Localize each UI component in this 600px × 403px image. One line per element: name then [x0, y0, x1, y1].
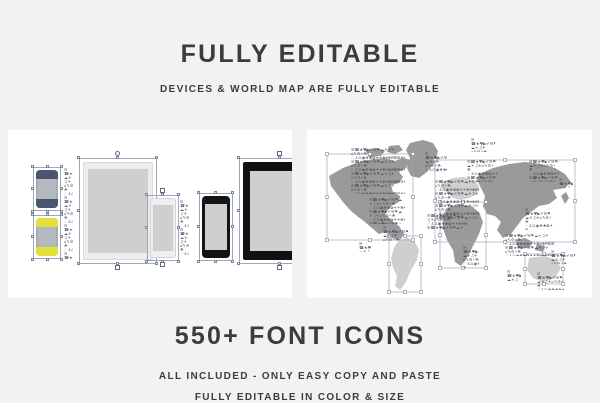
handle-n[interactable]	[46, 165, 49, 168]
region-japan	[561, 192, 569, 204]
icon-cluster-samerica: ✉☎★♥▶✔⚒⚑☁☀♫✈⌂✎⚙⚡☘☄⚓⚖◉❖❀✿✦✶❋⌖⎈⍾❂❇❄✹✉☎★♥▶✔…	[559, 178, 573, 188]
rotate-handle-bottom[interactable]	[115, 265, 120, 270]
icon-cluster-canada: ✉☎★♥▶✔⚒⚑☁☀♫✈⌂✎⚙⚡☘☄⚓⚖◉❖❀✿✦✶❋⌖⎈⍾❂❇❄✹✉☎★♥▶✔…	[351, 148, 405, 194]
handle-sw[interactable]	[31, 258, 34, 261]
handle-se[interactable]	[231, 260, 234, 263]
rotate-handle-top[interactable]	[277, 151, 282, 156]
devices-preview-panel: ✉☎★♥▶✔⚒⚑☁☀♫✈⌂✎⚙⚡☘☄⚓⚖◉❖❀✿✦✶❋⌖⎈⍾❂❇❄✹✉☎★♥▶✔…	[8, 130, 292, 298]
icon-cluster-oceania: ✉☎★♥▶✔⚒⚑☁☀♫✈⌂✎⚙⚡☘☄⚓⚖◉❖❀✿✦✶❋⌖⎈⍾❂❇❄✹✉☎★♥▶✔…	[537, 272, 565, 290]
icon-cluster-medit: ✉☎★♥▶✔⚒⚑☁☀♫✈⌂✎⚙⚡☘☄⚓⚖◉❖❀✿✦✶❋⌖⎈⍾❂❇❄✹✉☎★♥▶✔…	[427, 214, 467, 230]
icon-cluster-russia: ✉☎★♥▶✔⚒⚑☁☀♫✈⌂✎⚙⚡☘☄⚓⚖◉❖❀✿✦✶❋⌖⎈⍾❂❇❄✹✉☎★♥▶✔…	[529, 160, 559, 182]
handle-ne[interactable]	[155, 156, 158, 159]
handle-se[interactable]	[155, 262, 158, 265]
rotate-handle-bottom[interactable]	[277, 265, 282, 270]
icon-cluster-arctic: ✉☎★♥▶✔⚒⚑☁☀♫✈⌂✎⚙⚡☘☄⚓⚖◉❖❀✿✦✶❋⌖⎈⍾❂❇❄✹✉☎★♥▶✔…	[471, 138, 495, 152]
handle-nw[interactable]	[31, 213, 34, 216]
handle-s[interactable]	[214, 260, 217, 263]
handle-n[interactable]	[46, 213, 49, 216]
handle-ne[interactable]	[177, 193, 180, 196]
handle-w[interactable]	[31, 235, 34, 238]
handle-w[interactable]	[197, 225, 200, 228]
handle-w[interactable]	[237, 209, 240, 212]
icon-cluster-pacific: ✉☎★♥▶✔⚒⚑☁☀♫✈⌂✎⚙⚡☘☄⚓⚖◉❖❀✿✦✶❋⌖⎈⍾❂❇❄✹✉☎★♥▶✔…	[551, 250, 575, 264]
device-phone-yellow[interactable]	[36, 218, 58, 256]
handle-sw[interactable]	[77, 262, 80, 265]
icon-cluster-devices-mid: ✉☎★♥▶✔⚒⚑☁☀♫✈⌂✎⚙⚡☘☄⚓⚖◉❖❀✿✦✶❋⌖⎈⍾❂❇❄✹✉☎★♥▶✔…	[180, 200, 189, 256]
page-subtitle-bottom-2: FULLY EDITABLE IN COLOR & SIZE	[0, 393, 600, 403]
page-subtitle-top: DEVICES & WORLD MAP ARE FULLY EDITABLE	[0, 85, 600, 95]
icon-cluster-seasia: ✉☎★♥▶✔⚒⚑☁☀♫✈⌂✎⚙⚡☘☄⚓⚖◉❖❀✿✦✶❋⌖⎈⍾❂❇❄✹✉☎★♥▶✔…	[505, 234, 555, 256]
selection-box	[79, 158, 157, 264]
icon-cluster-brazil: ✉☎★♥▶✔⚒⚑☁☀♫✈⌂✎⚙⚡☘☄⚓⚖◉❖❀✿✦✶❋⌖⎈⍾❂❇❄✹✉☎★♥▶✔…	[359, 242, 371, 252]
icon-cluster-easia: ✉☎★♥▶✔⚒⚑☁☀♫✈⌂✎⚙⚡☘☄⚓⚖◉❖❀✿✦✶❋⌖⎈⍾❂❇❄✹✉☎★♥▶✔…	[525, 208, 553, 230]
handle-ne[interactable]	[60, 213, 63, 216]
rotate-handle-top[interactable]	[115, 151, 120, 156]
handle-se[interactable]	[177, 260, 180, 263]
icon-cluster-africa-s: ✉☎★♥▶✔⚒⚑☁☀♫✈⌂✎⚙⚡☘☄⚓⚖◉❖❀✿✦✶❋⌖⎈⍾❂❇❄✹✉☎★♥▶✔…	[463, 246, 479, 268]
region-south-america	[391, 238, 419, 290]
icon-cluster-namedit: ✉☎★♥▶✔⚒⚑☁☀♫✈⌂✎⚙⚡☘☄⚓⚖◉❖❀✿✦✶❋⌖⎈⍾❂❇❄✹✉☎★♥▶✔…	[467, 160, 497, 182]
handle-w[interactable]	[31, 187, 34, 190]
device-phone-white[interactable]	[150, 198, 176, 258]
selection-box	[199, 193, 233, 261]
icon-cluster-saustral: ✉☎★♥▶✔⚒⚑☁☀♫✈⌂✎⚙⚡☘☄⚓⚖◉❖❀✿✦✶❋⌖⎈⍾❂❇❄✹✉☎★♥▶✔…	[507, 270, 521, 282]
handle-n[interactable]	[116, 156, 119, 159]
selection-box	[33, 215, 61, 259]
world-map-panel: ✉☎★♥▶✔⚒⚑☁☀♫✈⌂✎⚙⚡☘☄⚓⚖◉❖❀✿✦✶❋⌖⎈⍾❂❇❄✹✉☎★♥▶✔…	[307, 130, 592, 298]
icon-cluster-usa: ✉☎★♥▶✔⚒⚑☁☀♫✈⌂✎⚙⚡☘☄⚓⚖◉❖❀✿✦✶❋⌖⎈⍾❂❇❄✹✉☎★♥▶✔…	[369, 198, 405, 224]
handle-sw[interactable]	[145, 260, 148, 263]
handle-nw[interactable]	[31, 165, 34, 168]
handle-w[interactable]	[145, 226, 148, 229]
handle-ne[interactable]	[60, 165, 63, 168]
handle-n[interactable]	[278, 156, 281, 159]
icon-cluster-devices-left: ✉☎★♥▶✔⚒⚑☁☀♫✈⌂✎⚙⚡☘☄⚓⚖◉❖❀✿✦✶❋⌖⎈⍾❂❇❄✹✉☎★♥▶✔…	[64, 168, 73, 260]
handle-nw[interactable]	[145, 193, 148, 196]
handle-nw[interactable]	[197, 191, 200, 194]
handle-nw[interactable]	[237, 156, 240, 159]
handle-sw[interactable]	[237, 262, 240, 265]
handle-n[interactable]	[214, 191, 217, 194]
page-title-bottom: 550+ FONT ICONS	[0, 324, 600, 349]
handle-n[interactable]	[161, 193, 164, 196]
handle-e[interactable]	[231, 225, 234, 228]
selection-box	[33, 167, 61, 211]
page-title-top: FULLY EDITABLE	[0, 42, 600, 67]
poster-canvas: FULLY EDITABLE DEVICES & WORLD MAP ARE F…	[0, 0, 600, 400]
handle-nw[interactable]	[77, 156, 80, 159]
selection-box	[147, 195, 179, 261]
handle-se[interactable]	[60, 258, 63, 261]
device-tablet-black[interactable]	[243, 162, 292, 260]
device-phone-navy[interactable]	[36, 170, 58, 208]
rotate-handle-top[interactable]	[160, 188, 165, 193]
icon-cluster-atlantic: ✉☎★♥▶✔⚒⚑☁☀♫✈⌂✎⚙⚡☘☄⚓⚖◉❖❀✿✦✶❋⌖⎈⍾❂❇❄✹✉☎★♥▶✔…	[425, 152, 447, 172]
device-tablet-white[interactable]	[83, 162, 153, 260]
world-map[interactable]: ✉☎★♥▶✔⚒⚑☁☀♫✈⌂✎⚙⚡☘☄⚓⚖◉❖❀✿✦✶❋⌖⎈⍾❂❇❄✹✉☎★♥▶✔…	[307, 130, 592, 298]
handle-sw[interactable]	[197, 260, 200, 263]
rotate-handle-bottom[interactable]	[160, 262, 165, 267]
icon-cluster-mexico: ✉☎★♥▶✔⚒⚑☁☀♫✈⌂✎⚙⚡☘☄⚓⚖◉❖❀✿✦✶❋⌖⎈⍾❂❇❄✹✉☎★♥▶✔…	[383, 226, 409, 242]
page-subtitle-bottom-1: ALL INCLUDED - ONLY EASY COPY AND PASTE	[0, 372, 600, 382]
selection-box	[239, 158, 292, 264]
handle-e[interactable]	[60, 187, 63, 190]
handle-w[interactable]	[77, 209, 80, 212]
device-phone-black[interactable]	[202, 196, 230, 258]
handle-ne[interactable]	[231, 191, 234, 194]
handle-s[interactable]	[46, 258, 49, 261]
handle-e[interactable]	[60, 235, 63, 238]
